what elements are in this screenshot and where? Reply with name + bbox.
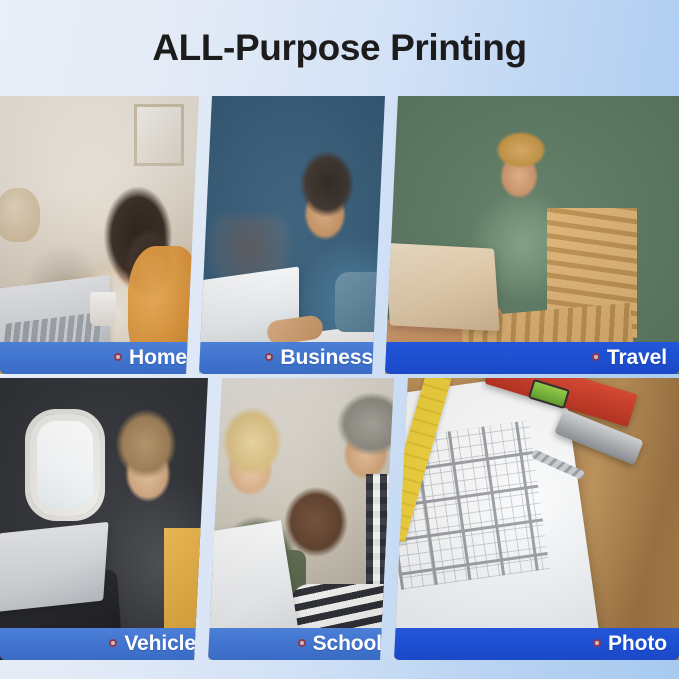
feature-label-travel[interactable]: Travel <box>385 342 679 374</box>
feature-label-text: Business <box>280 346 373 370</box>
feature-image-vehicle <box>0 378 208 660</box>
feature-cell-photo[interactable]: Photo <box>394 378 679 660</box>
ring-bullet-icon <box>114 353 122 361</box>
feature-label-vehicle[interactable]: Vehicle <box>0 628 208 660</box>
feature-image-business <box>199 96 385 374</box>
feature-label-photo[interactable]: Photo <box>394 628 679 660</box>
feature-cell-vehicle[interactable]: Vehicle <box>0 378 208 660</box>
ring-bullet-icon <box>298 639 306 647</box>
feature-cell-school[interactable]: School <box>208 378 394 660</box>
feature-label-business[interactable]: Business <box>199 342 385 374</box>
feature-image-school <box>208 378 394 660</box>
denim-sleeve <box>335 272 385 332</box>
coffee-cup <box>90 292 116 326</box>
page-title-container: ALL-Purpose Printing <box>0 0 679 96</box>
page-title: ALL-Purpose Printing <box>152 27 526 69</box>
feature-label-home[interactable]: Home <box>0 342 199 374</box>
decor-vase <box>0 188 40 242</box>
feature-image-home <box>0 96 199 374</box>
feature-label-text: Home <box>129 346 187 370</box>
feature-label-text: Photo <box>608 632 667 656</box>
feature-label-text: School <box>313 632 382 656</box>
feature-image-travel <box>385 96 679 374</box>
ring-bullet-icon <box>593 639 601 647</box>
feature-row-2: Vehicle School <box>0 378 679 660</box>
feature-label-text: Travel <box>607 346 667 370</box>
decor-picture-frame <box>134 104 184 166</box>
laptop-body <box>0 522 109 612</box>
ring-bullet-icon <box>109 639 117 647</box>
feature-cell-home[interactable]: Home <box>0 96 199 374</box>
feature-label-text: Vehicle <box>124 632 196 656</box>
feature-label-school[interactable]: School <box>208 628 394 660</box>
feature-row-1: Home Business <box>0 96 679 374</box>
ring-bullet-icon <box>592 353 600 361</box>
feature-cell-travel[interactable]: Travel <box>385 96 679 374</box>
poster-root: ALL-Purpose Printing Home <box>0 0 679 679</box>
ring-bullet-icon <box>265 353 273 361</box>
airplane-window <box>30 414 100 516</box>
feature-cell-business[interactable]: Business <box>199 96 385 374</box>
feature-image-photo <box>394 378 679 660</box>
laptop-body <box>385 243 500 331</box>
